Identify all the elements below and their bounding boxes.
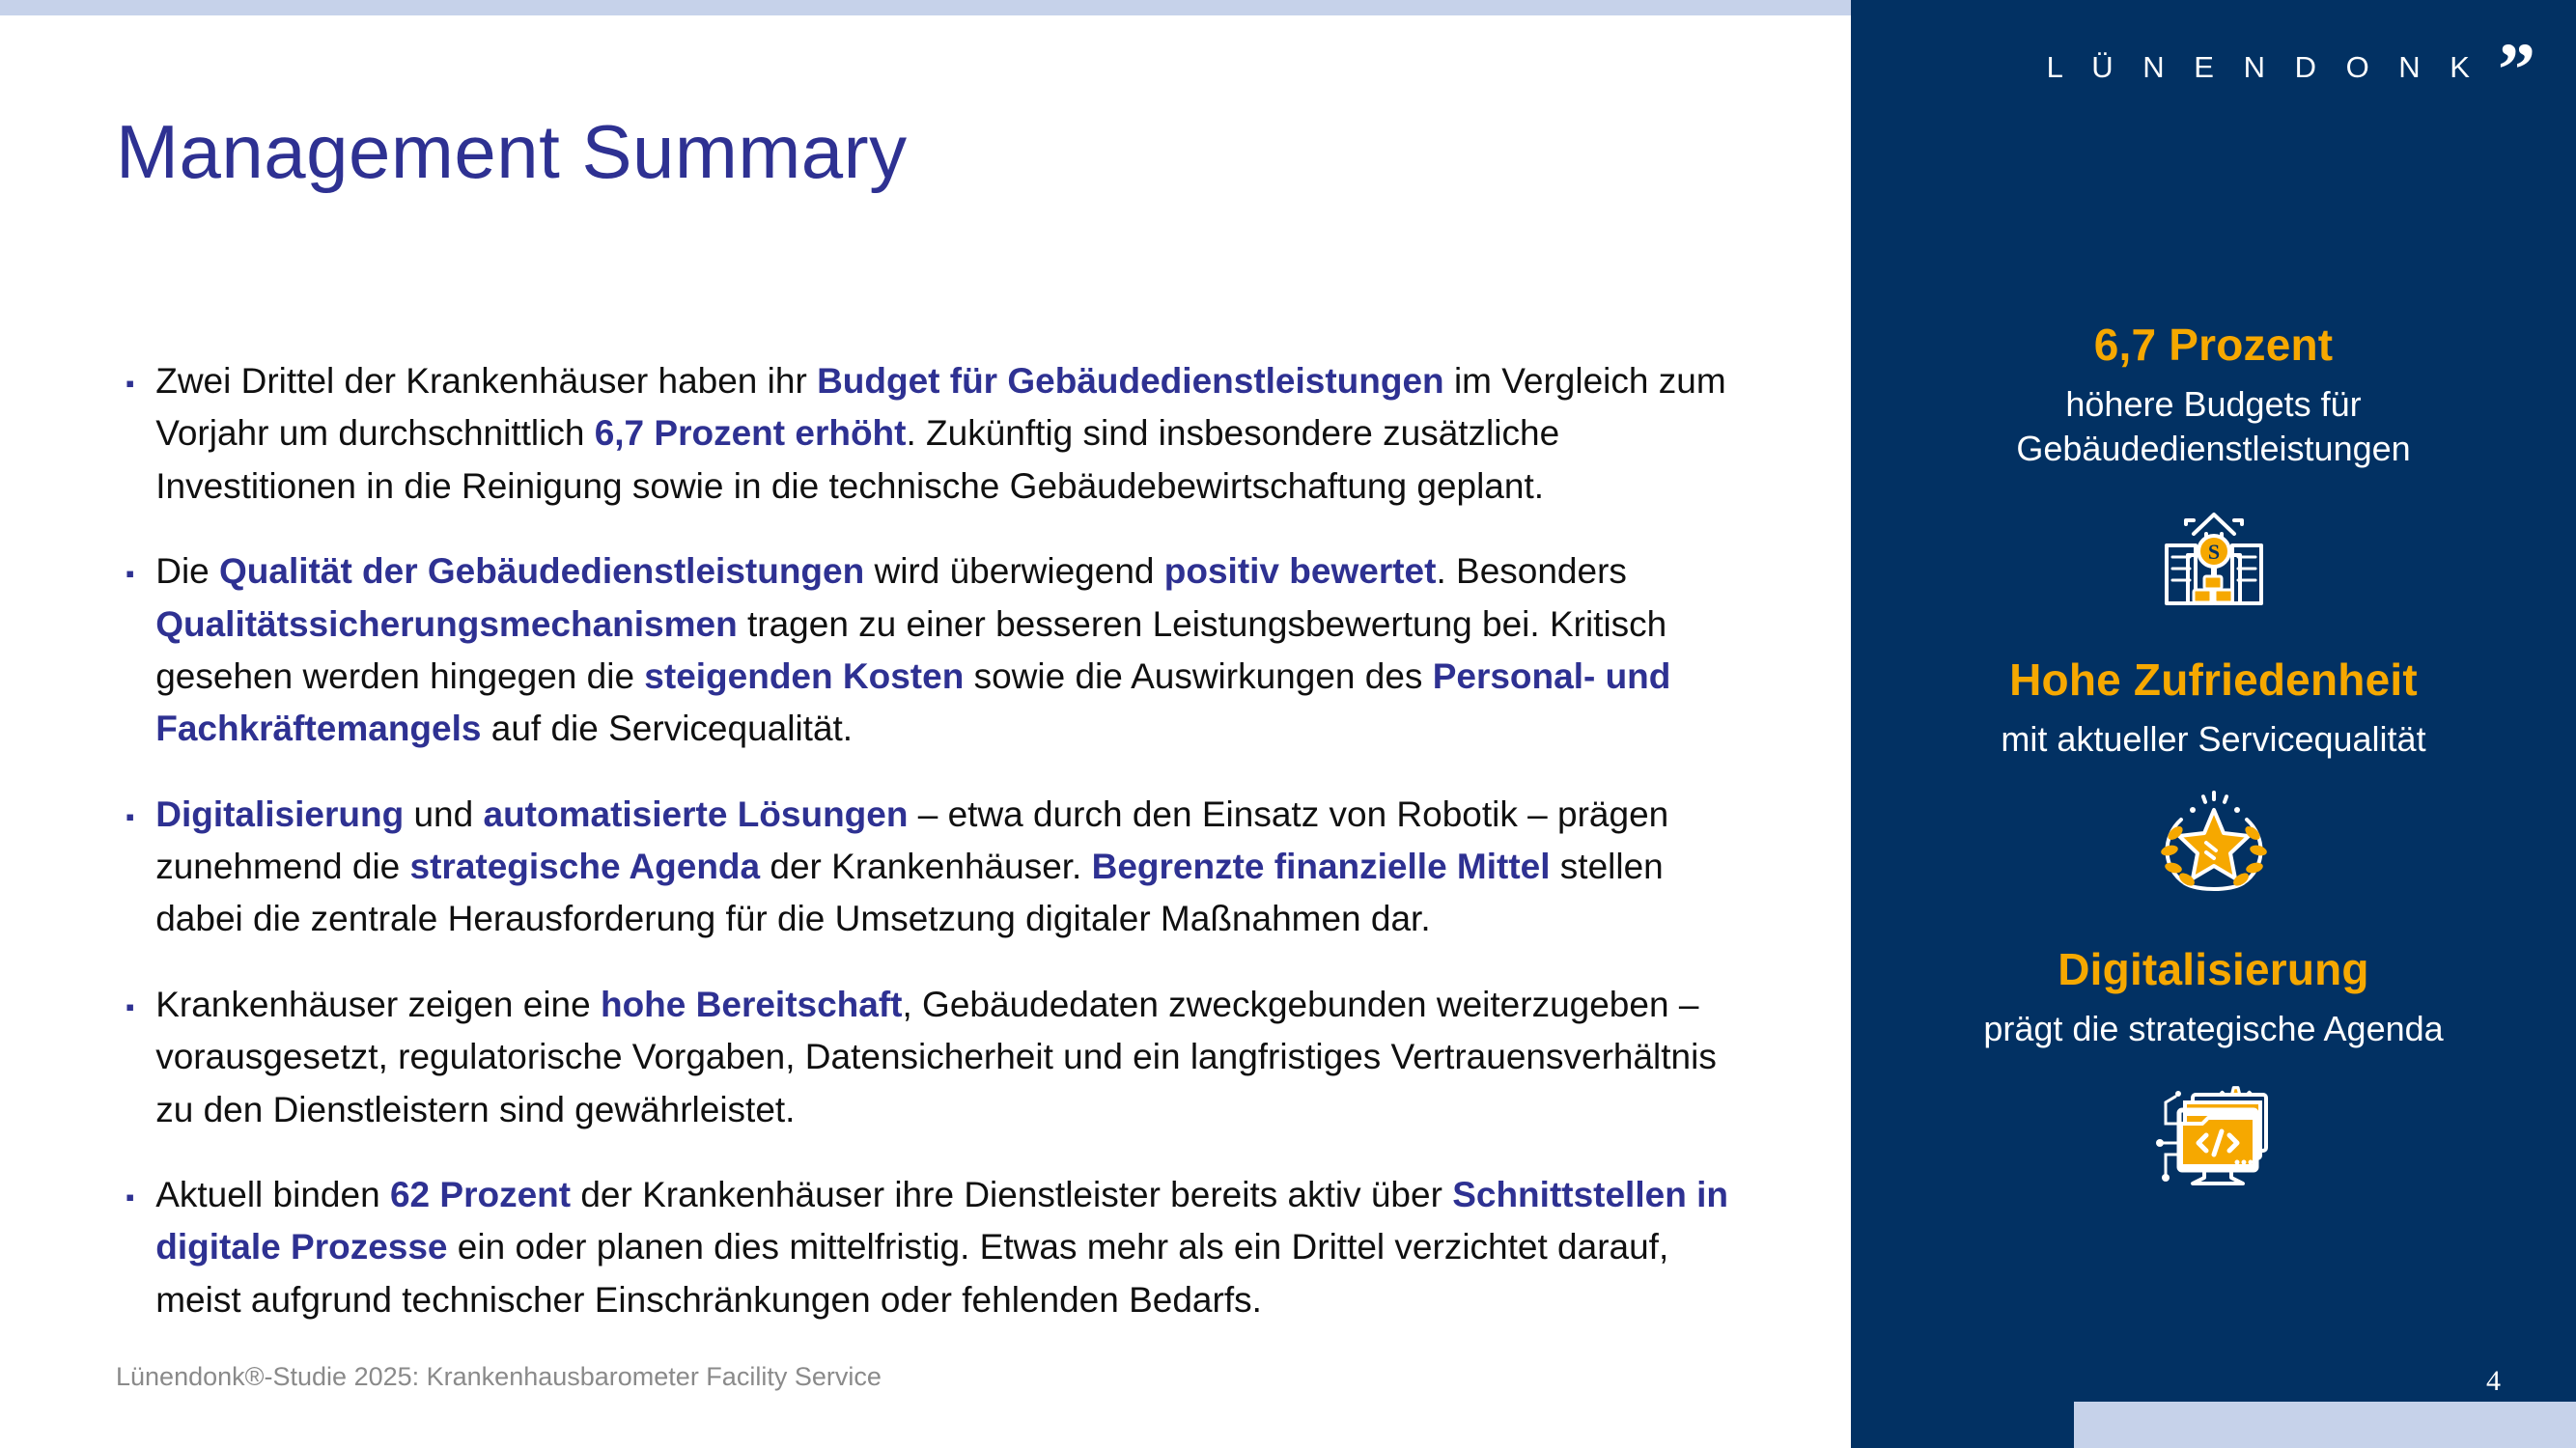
kpi-list: 6,7 Prozent höhere Budgets für Gebäudedi… — [1851, 319, 2576, 1191]
bullet-text: Die Qualität der Gebäudedienstleistungen… — [155, 545, 1748, 756]
bottom-right-accent — [2074, 1402, 2576, 1448]
bullet-marker-icon: ▪ — [126, 994, 134, 1019]
kpi-headline: Hohe Zufriedenheit — [2009, 654, 2418, 706]
footer-source-text: Lünendonk®-Studie 2025: Krankenhausbarom… — [116, 1362, 882, 1392]
kpi-headline: Digitalisierung — [2058, 943, 2368, 995]
bullet-item: ▪Die Qualität der Gebäudedienstleistunge… — [126, 545, 1748, 756]
bullet-marker-icon: ▪ — [126, 804, 134, 829]
kpi-subline: höhere Budgets für Gebäudedienstleistung… — [1905, 382, 2523, 470]
bullet-text: Aktuell binden 62 Prozent der Krankenhäu… — [155, 1169, 1748, 1326]
kpi-subline: mit aktueller Servicequalität — [2001, 717, 2425, 761]
bullet-item: ▪Digitalisierung und automatisierte Lösu… — [126, 789, 1748, 946]
page-title: Management Summary — [116, 108, 908, 196]
kpi-subline: prägt die strategische Agenda — [1983, 1007, 2443, 1050]
lunendonk-logo: L Ü N E N D O N K ” — [2047, 50, 2535, 85]
bullet-text: Zwei Drittel der Krankenhäuser haben ihr… — [155, 355, 1748, 513]
kpi-satisfaction: Hohe Zufriedenheit mit aktueller Service… — [1851, 654, 2576, 903]
kpi-headline: 6,7 Prozent — [2094, 319, 2334, 371]
logo-wordmark: L Ü N E N D O N K — [2047, 50, 2480, 85]
bullet-item: ▪Krankenhäuser zeigen eine hohe Bereitsc… — [126, 979, 1748, 1136]
quote-mark-icon: ” — [2498, 52, 2535, 86]
bullet-text: Digitalisierung und automatisierte Lösun… — [155, 789, 1748, 946]
page-number: 4 — [2486, 1365, 2501, 1398]
budget-buildings-icon: S — [2151, 487, 2277, 611]
bullet-text: Krankenhäuser zeigen eine hohe Bereitsch… — [155, 979, 1748, 1136]
svg-text:S: S — [2207, 540, 2219, 564]
slide-root: Management Summary ▪Zwei Drittel der Kra… — [0, 0, 2576, 1448]
bullet-list: ▪Zwei Drittel der Krankenhäuser haben ih… — [126, 355, 1748, 1359]
bullet-item: ▪Zwei Drittel der Krankenhäuser haben ih… — [126, 355, 1748, 513]
kpi-digitalisation: Digitalisierung prägt die strategische A… — [1851, 943, 2576, 1192]
bullet-marker-icon: ▪ — [126, 371, 134, 396]
sidebar-panel: L Ü N E N D O N K ” 6,7 Prozent höhere B… — [1851, 0, 2576, 1448]
bullet-marker-icon: ▪ — [126, 561, 134, 586]
code-monitor-icon — [2146, 1068, 2282, 1191]
bullet-item: ▪Aktuell binden 62 Prozent der Krankenhä… — [126, 1169, 1748, 1326]
laurel-star-icon — [2146, 779, 2282, 903]
bullet-marker-icon: ▪ — [126, 1184, 134, 1210]
kpi-budget: 6,7 Prozent höhere Budgets für Gebäudedi… — [1851, 319, 2576, 611]
